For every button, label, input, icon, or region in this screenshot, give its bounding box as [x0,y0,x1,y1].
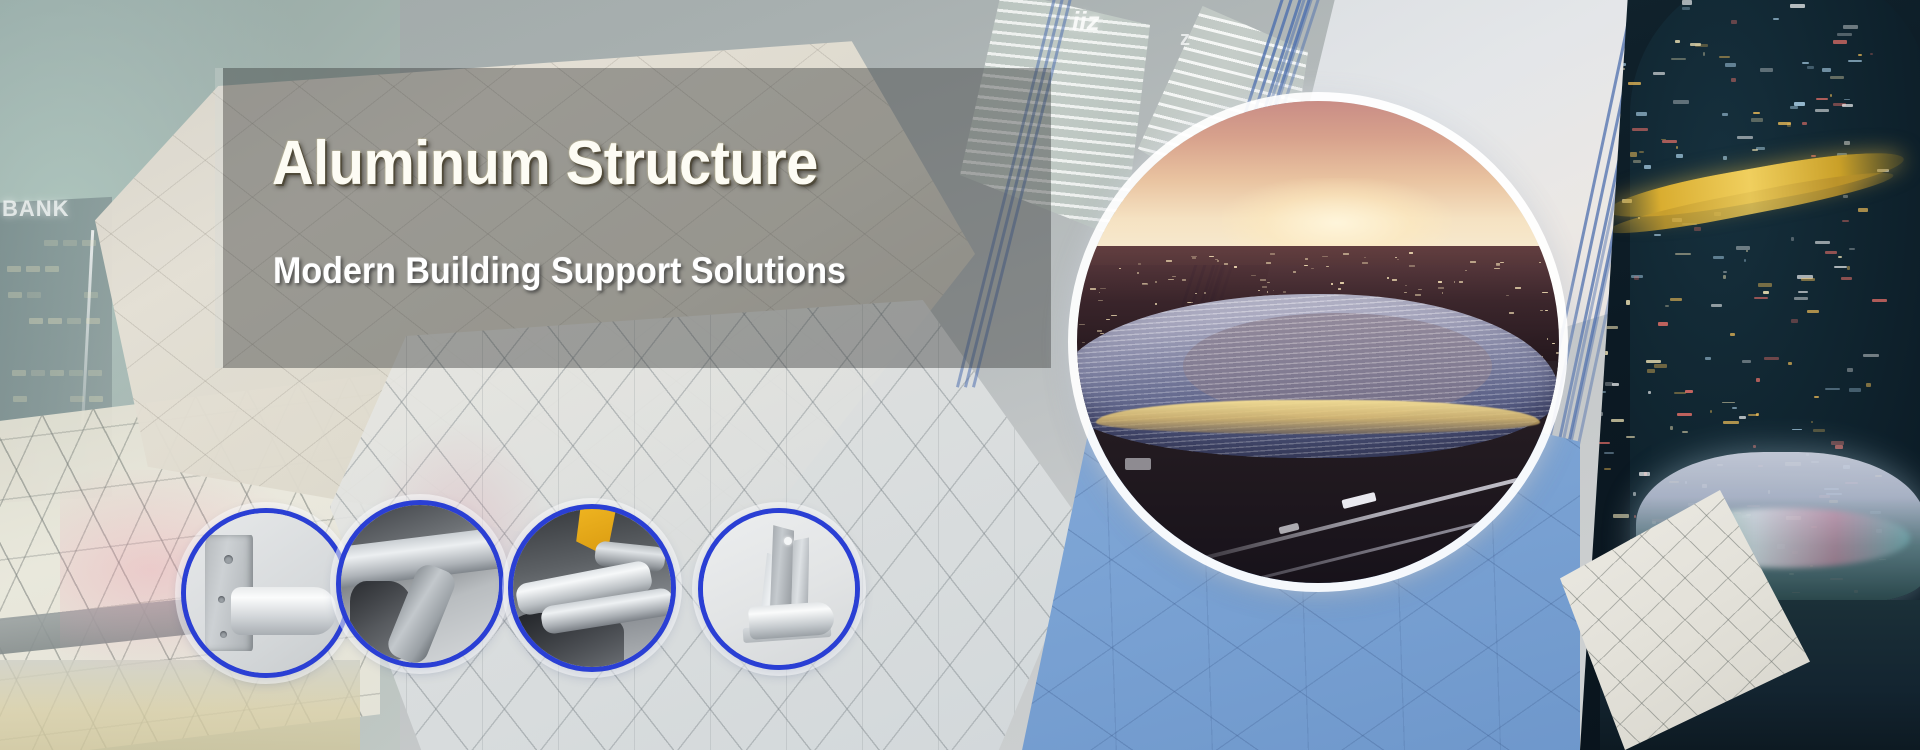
city-light [1556,352,1562,354]
city-light [1138,263,1141,265]
city-light [1515,287,1521,289]
window-light [1723,156,1727,160]
window-light [1648,391,1651,393]
window-light [1711,304,1722,307]
window-light [1798,291,1808,293]
window-light [1604,468,1611,470]
city-light [1305,258,1308,260]
window-light [1742,360,1751,364]
city-light [1155,303,1157,305]
city-light [1097,330,1102,332]
window-light [1613,514,1629,518]
window-light [1825,251,1837,255]
window-light [1844,99,1849,101]
aluminum-structure-banner: BANK iiz z Aluminum Structure Modern Bui… [0,0,1920,750]
city-light [1470,261,1475,263]
canopy-interior-floor [0,660,360,750]
window-light [1752,149,1759,151]
city-light [1283,291,1286,293]
window-light [1685,390,1693,393]
product-circle-1[interactable] [181,508,351,678]
window-light [1807,310,1819,313]
window-light [1628,82,1641,85]
window-light [1837,33,1852,36]
window-light [44,240,58,246]
window-light [1682,431,1688,433]
window-light [31,370,45,376]
bracket-hole [224,555,233,564]
window-light [1751,118,1763,121]
city-light [1137,272,1138,274]
city-light [1404,292,1407,294]
window-light [1719,56,1730,58]
window-light [1802,122,1807,126]
window-light [86,318,100,324]
window-light [8,292,22,298]
window-light [1825,388,1840,390]
window-light [1791,237,1794,240]
window-light [1658,322,1668,326]
window-light [1612,383,1619,386]
window-light [89,396,103,402]
window-light [1675,40,1679,43]
window-light [1644,165,1651,169]
window-light [82,240,96,246]
window-light [1670,426,1673,429]
product-circle-3[interactable] [508,504,676,672]
window-light [1756,378,1760,381]
window-light [1843,195,1849,198]
window-light [69,370,83,376]
window-light [1847,368,1853,372]
city-light [1409,252,1413,254]
window-light [1694,227,1701,231]
product-circle-4[interactable] [698,508,860,670]
window-light [1815,241,1830,244]
window-light [1814,396,1819,399]
window-light [26,266,40,272]
window-light [1654,234,1661,236]
center-tower-one-sign: iiz [1072,6,1099,37]
window-light [1730,333,1736,336]
city-light [1331,283,1333,285]
hero-vehicle [1125,458,1151,470]
bracket-hole [220,631,227,638]
window-light [1841,277,1852,280]
window-light [1731,78,1736,82]
city-light [1392,279,1396,281]
window-light [1858,54,1862,56]
window-light [1801,278,1815,281]
window-light [1674,392,1686,395]
city-light [1405,285,1407,287]
city-light [1090,288,1095,290]
window-light [88,370,102,376]
product-image-cad-bracket-render [703,513,855,665]
city-light [1166,260,1172,262]
window-light [1630,152,1638,156]
product-image-tube-connector-assembly [513,509,671,667]
city-light [1500,262,1504,264]
city-light [1224,263,1229,265]
page-subtitle: Modern Building Support Solutions [273,250,846,292]
city-light [1459,281,1463,283]
city-light [1270,253,1275,255]
hero-image [1077,101,1559,583]
window-light [1626,436,1634,438]
window-light [1636,112,1647,116]
hero-stadium-circle [1068,92,1568,592]
city-light [1387,277,1388,279]
window-light [1842,220,1849,222]
window-light [1802,62,1808,64]
window-light [1778,122,1791,125]
window-light [1842,104,1853,107]
window-light [1754,297,1768,300]
window-light [1611,419,1624,422]
window-light [1791,319,1798,323]
window-light [1677,413,1692,417]
window-light [1773,18,1779,21]
window-light [1690,43,1701,46]
window-light [1731,20,1737,24]
city-light [1442,292,1443,294]
city-light [1311,268,1314,270]
city-light [1192,257,1196,259]
window-light [63,240,77,246]
window-light [1849,388,1861,392]
window-light [70,396,84,402]
city-light [1415,294,1420,296]
city-light [1496,265,1500,267]
city-light [1142,283,1147,285]
window-light [1723,271,1727,273]
bank-building-sign: BANK [2,196,70,222]
window-light [1705,357,1711,360]
window-light [1737,136,1753,140]
city-light [1438,281,1442,283]
window-light [1760,68,1773,72]
city-light [1554,266,1557,268]
city-light [1204,292,1206,294]
window-light [1736,246,1750,250]
window-light [1815,109,1828,112]
window-light [1670,298,1683,301]
window-light [1739,416,1746,419]
window-light [67,318,81,324]
window-light [1872,299,1887,301]
window-light [1756,413,1760,416]
window-light [1723,421,1739,424]
city-light [1099,292,1100,294]
window-light [50,370,64,376]
city-light [1182,279,1185,281]
window-light [1634,276,1639,280]
window-light [1675,253,1691,255]
text-panel-left-edge [215,68,223,368]
window-light [1790,106,1798,109]
window-light [12,370,26,376]
window-light [1858,208,1869,212]
window-light [1682,0,1692,4]
window-light [1639,472,1651,476]
window-light [1830,94,1832,97]
window-light [1633,160,1640,163]
product-circle-2[interactable] [336,500,504,668]
window-light [1626,300,1630,304]
window-light [1722,113,1728,116]
window-light [1843,25,1858,28]
window-light [1758,283,1773,287]
window-light [1833,40,1847,44]
window-light [1605,382,1613,386]
city-light [1266,262,1271,264]
city-light [1155,281,1157,283]
window-light [1646,360,1660,363]
product-image-pipe-clamp-joint [341,505,499,663]
city-light [1409,265,1415,267]
window-light [1764,357,1779,360]
product-image-wall-mount-bracket-pipe [186,513,346,673]
window-light [1763,291,1769,294]
window-light [1790,4,1804,7]
window-light [1822,68,1831,72]
window-light [1723,275,1725,279]
window-light [1665,305,1669,307]
window-light [13,396,27,402]
city-light [1322,256,1328,258]
city-light [1395,257,1397,259]
city-light [1304,265,1309,267]
window-light [1794,297,1808,299]
window-light [48,318,62,324]
window-light [1662,140,1677,143]
window-light [1811,155,1816,157]
city-light [1234,266,1238,268]
window-light [1830,76,1843,79]
window-light [1632,128,1648,132]
window-light [84,292,98,298]
window-light [1653,72,1665,75]
window-light [1604,452,1614,454]
window-light [1654,364,1667,367]
window-light [1813,429,1824,432]
window-light [1835,445,1843,449]
city-light [1260,279,1265,281]
city-light [1438,287,1444,289]
window-light [1753,112,1761,114]
window-light [1713,256,1724,259]
window-light [1870,53,1873,55]
hero-concourse-lights [1096,400,1539,434]
window-light [27,292,41,298]
window-light [1866,383,1871,387]
text-overlay-panel [223,68,1051,368]
cad-bracket-hole [784,537,792,545]
city-light [1540,310,1543,312]
bracket-tube [231,587,337,635]
window-light [1639,151,1644,153]
window-light [1725,63,1736,67]
window-light [1847,266,1850,270]
window-light [1676,154,1683,158]
city-light [1111,315,1117,317]
window-light [1807,66,1814,69]
window-light [1863,354,1879,357]
city-light [1262,286,1266,288]
city-light [1343,253,1349,255]
city-light [1338,288,1341,290]
window-light [1838,256,1842,258]
window-light [1811,421,1813,423]
window-light [1673,100,1689,104]
window-light [1682,7,1690,10]
center-tower-two-sign: z [1180,28,1190,51]
page-title: Aluminum Structure [272,128,818,199]
city-light [1217,260,1218,262]
window-light [1633,492,1637,496]
city-light [1551,253,1556,255]
city-light [1293,271,1295,273]
city-light [1362,262,1368,264]
window-light [1703,52,1705,55]
window-light [29,318,43,324]
window-light [7,266,21,272]
city-light [1340,282,1344,284]
window-light [1788,362,1792,365]
window-light [45,266,59,272]
window-light [1844,141,1849,145]
window-light [1647,369,1655,373]
city-light [1509,312,1514,314]
window-light [1834,266,1847,268]
